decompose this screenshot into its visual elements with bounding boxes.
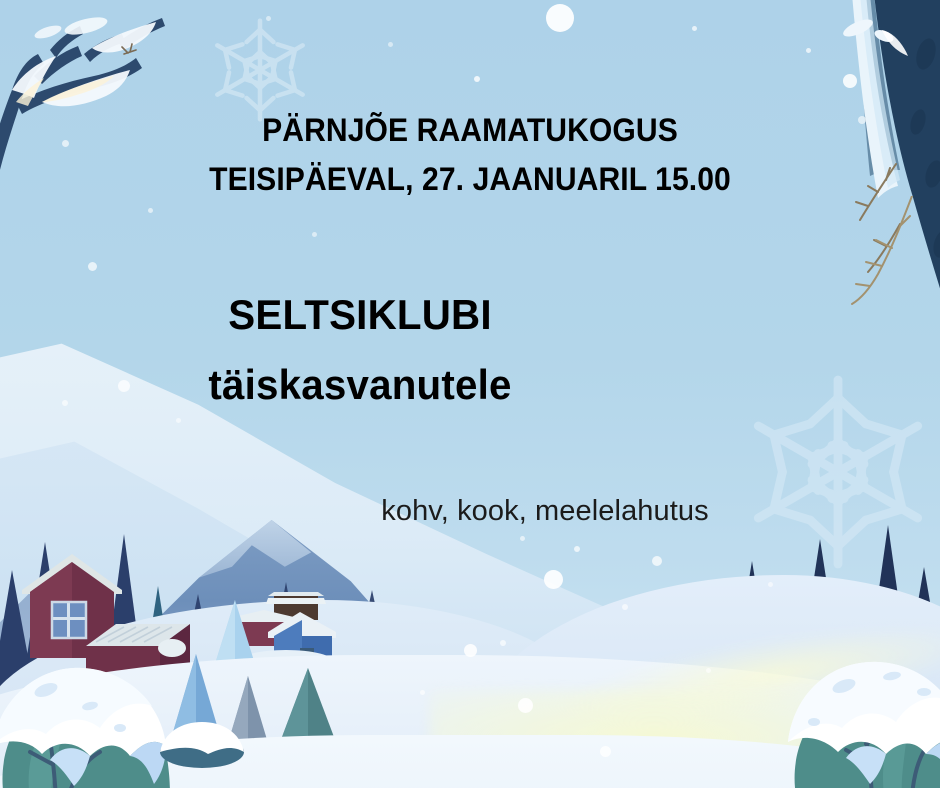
- title-line-1: SELTSIKLUBI: [228, 291, 491, 338]
- title-line-2: täiskasvanutele: [43, 350, 677, 420]
- event-subtitle: kohv, kook, meelelahutus: [160, 492, 930, 530]
- poster-text-layer: PÄRNJÕE RAAMATUKOGUS TEISIPÄEVAL, 27. JA…: [0, 0, 940, 788]
- winter-event-poster: PÄRNJÕE RAAMATUKOGUS TEISIPÄEVAL, 27. JA…: [0, 0, 940, 788]
- event-header: PÄRNJÕE RAAMATUKOGUS TEISIPÄEVAL, 27. JA…: [28, 106, 912, 204]
- event-title: SELTSIKLUBI täiskasvanutele: [43, 280, 677, 420]
- header-line-1: PÄRNJÕE RAAMATUKOGUS: [262, 112, 678, 148]
- header-line-2: TEISIPÄEVAL, 27. JAANUARIL 15.00: [28, 155, 912, 204]
